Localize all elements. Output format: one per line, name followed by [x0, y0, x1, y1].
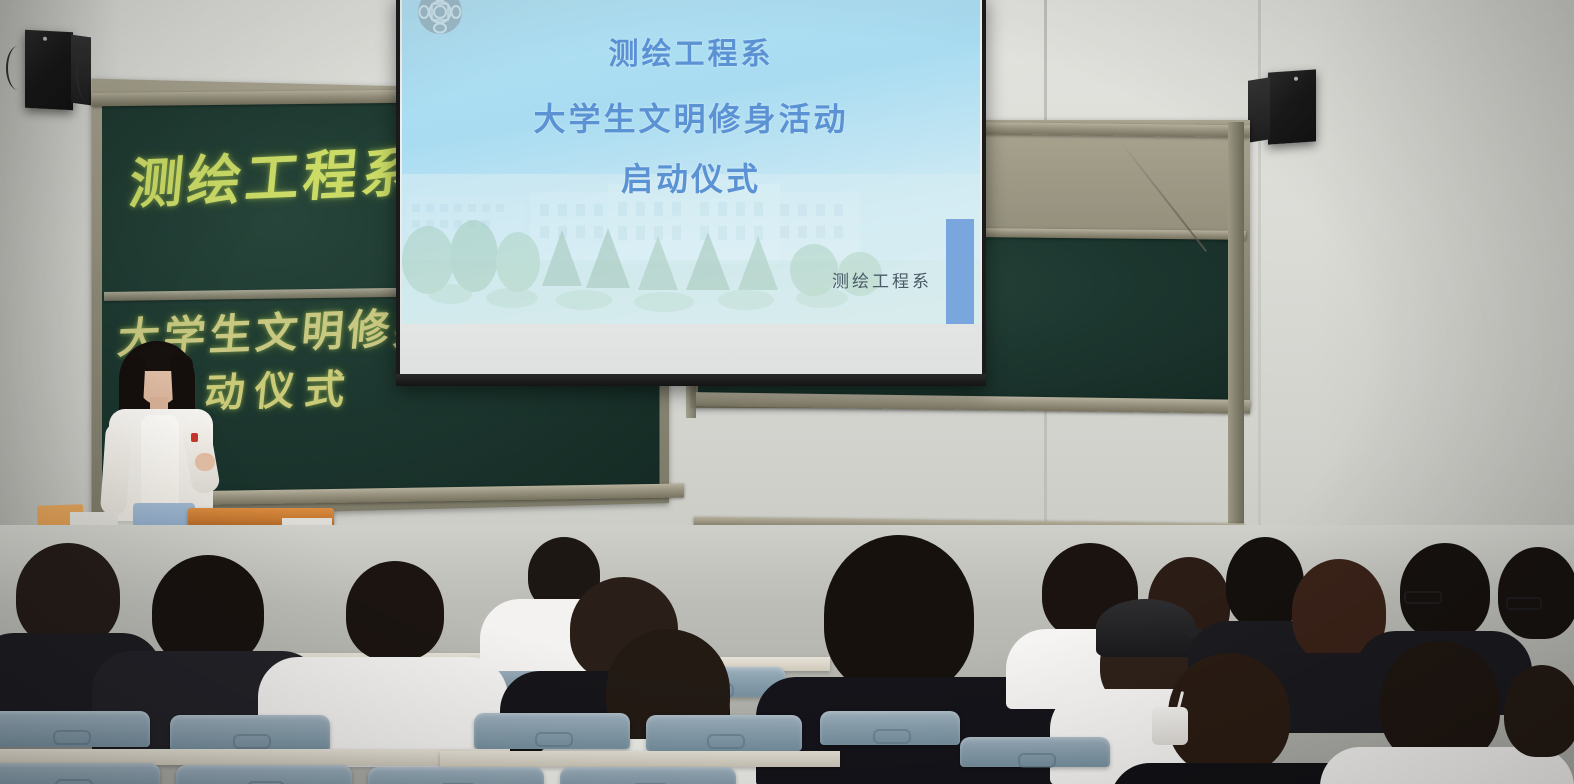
slide-title-line-2: 大学生文明修身活动	[402, 94, 980, 140]
presenter-hand	[195, 453, 215, 471]
blackboard-text-line-1: 测绘工程系	[126, 127, 423, 219]
slide-accent-bar	[946, 219, 974, 324]
seat	[176, 765, 352, 784]
face-mask	[1152, 707, 1188, 745]
lecture-hall-photo: 测绘工程系 大学生文明修身活动 启动仪式	[0, 0, 1574, 784]
seat	[646, 715, 802, 751]
seat	[560, 767, 736, 784]
wall-speaker-right-side	[1248, 77, 1270, 142]
eyeglasses	[1506, 597, 1542, 610]
slide-title-line-3: 启动仪式	[402, 154, 980, 200]
projection-screen: 测绘工程系 大学生文明修身活动 启动仪式 测绘工程系	[396, 0, 986, 386]
presentation-slide: 测绘工程系 大学生文明修身活动 启动仪式 测绘工程系	[402, 0, 980, 324]
slide-footer-text: 测绘工程系	[832, 267, 932, 292]
seat	[960, 737, 1110, 767]
speaker-led-icon	[1294, 77, 1298, 81]
eyeglasses	[1404, 591, 1442, 604]
speaker-cable-left	[6, 46, 30, 90]
student-head	[1504, 665, 1574, 757]
seat	[474, 713, 630, 749]
seat	[0, 763, 160, 784]
baseball-cap	[1096, 599, 1196, 657]
seat	[368, 767, 544, 784]
student-head	[824, 535, 974, 695]
slide-title-line-1: 测绘工程系	[402, 29, 980, 73]
student-head	[16, 543, 120, 647]
presenter-inner-top	[141, 415, 179, 511]
seat	[170, 715, 330, 751]
seat	[0, 711, 150, 747]
presenter-badge	[191, 433, 198, 442]
seat	[820, 711, 960, 745]
wall-speaker-left	[25, 30, 73, 111]
student-head	[1498, 547, 1574, 639]
student-head	[346, 561, 444, 661]
screen-bottom-bar	[396, 374, 986, 386]
blackboard-rail-vertical-right	[1228, 122, 1244, 534]
desk-row-near-2	[440, 751, 840, 767]
audience-area: SUMMER HURRY UP	[0, 525, 1574, 784]
speaker-led-icon	[43, 37, 47, 41]
wall-speaker-right	[1268, 69, 1316, 144]
